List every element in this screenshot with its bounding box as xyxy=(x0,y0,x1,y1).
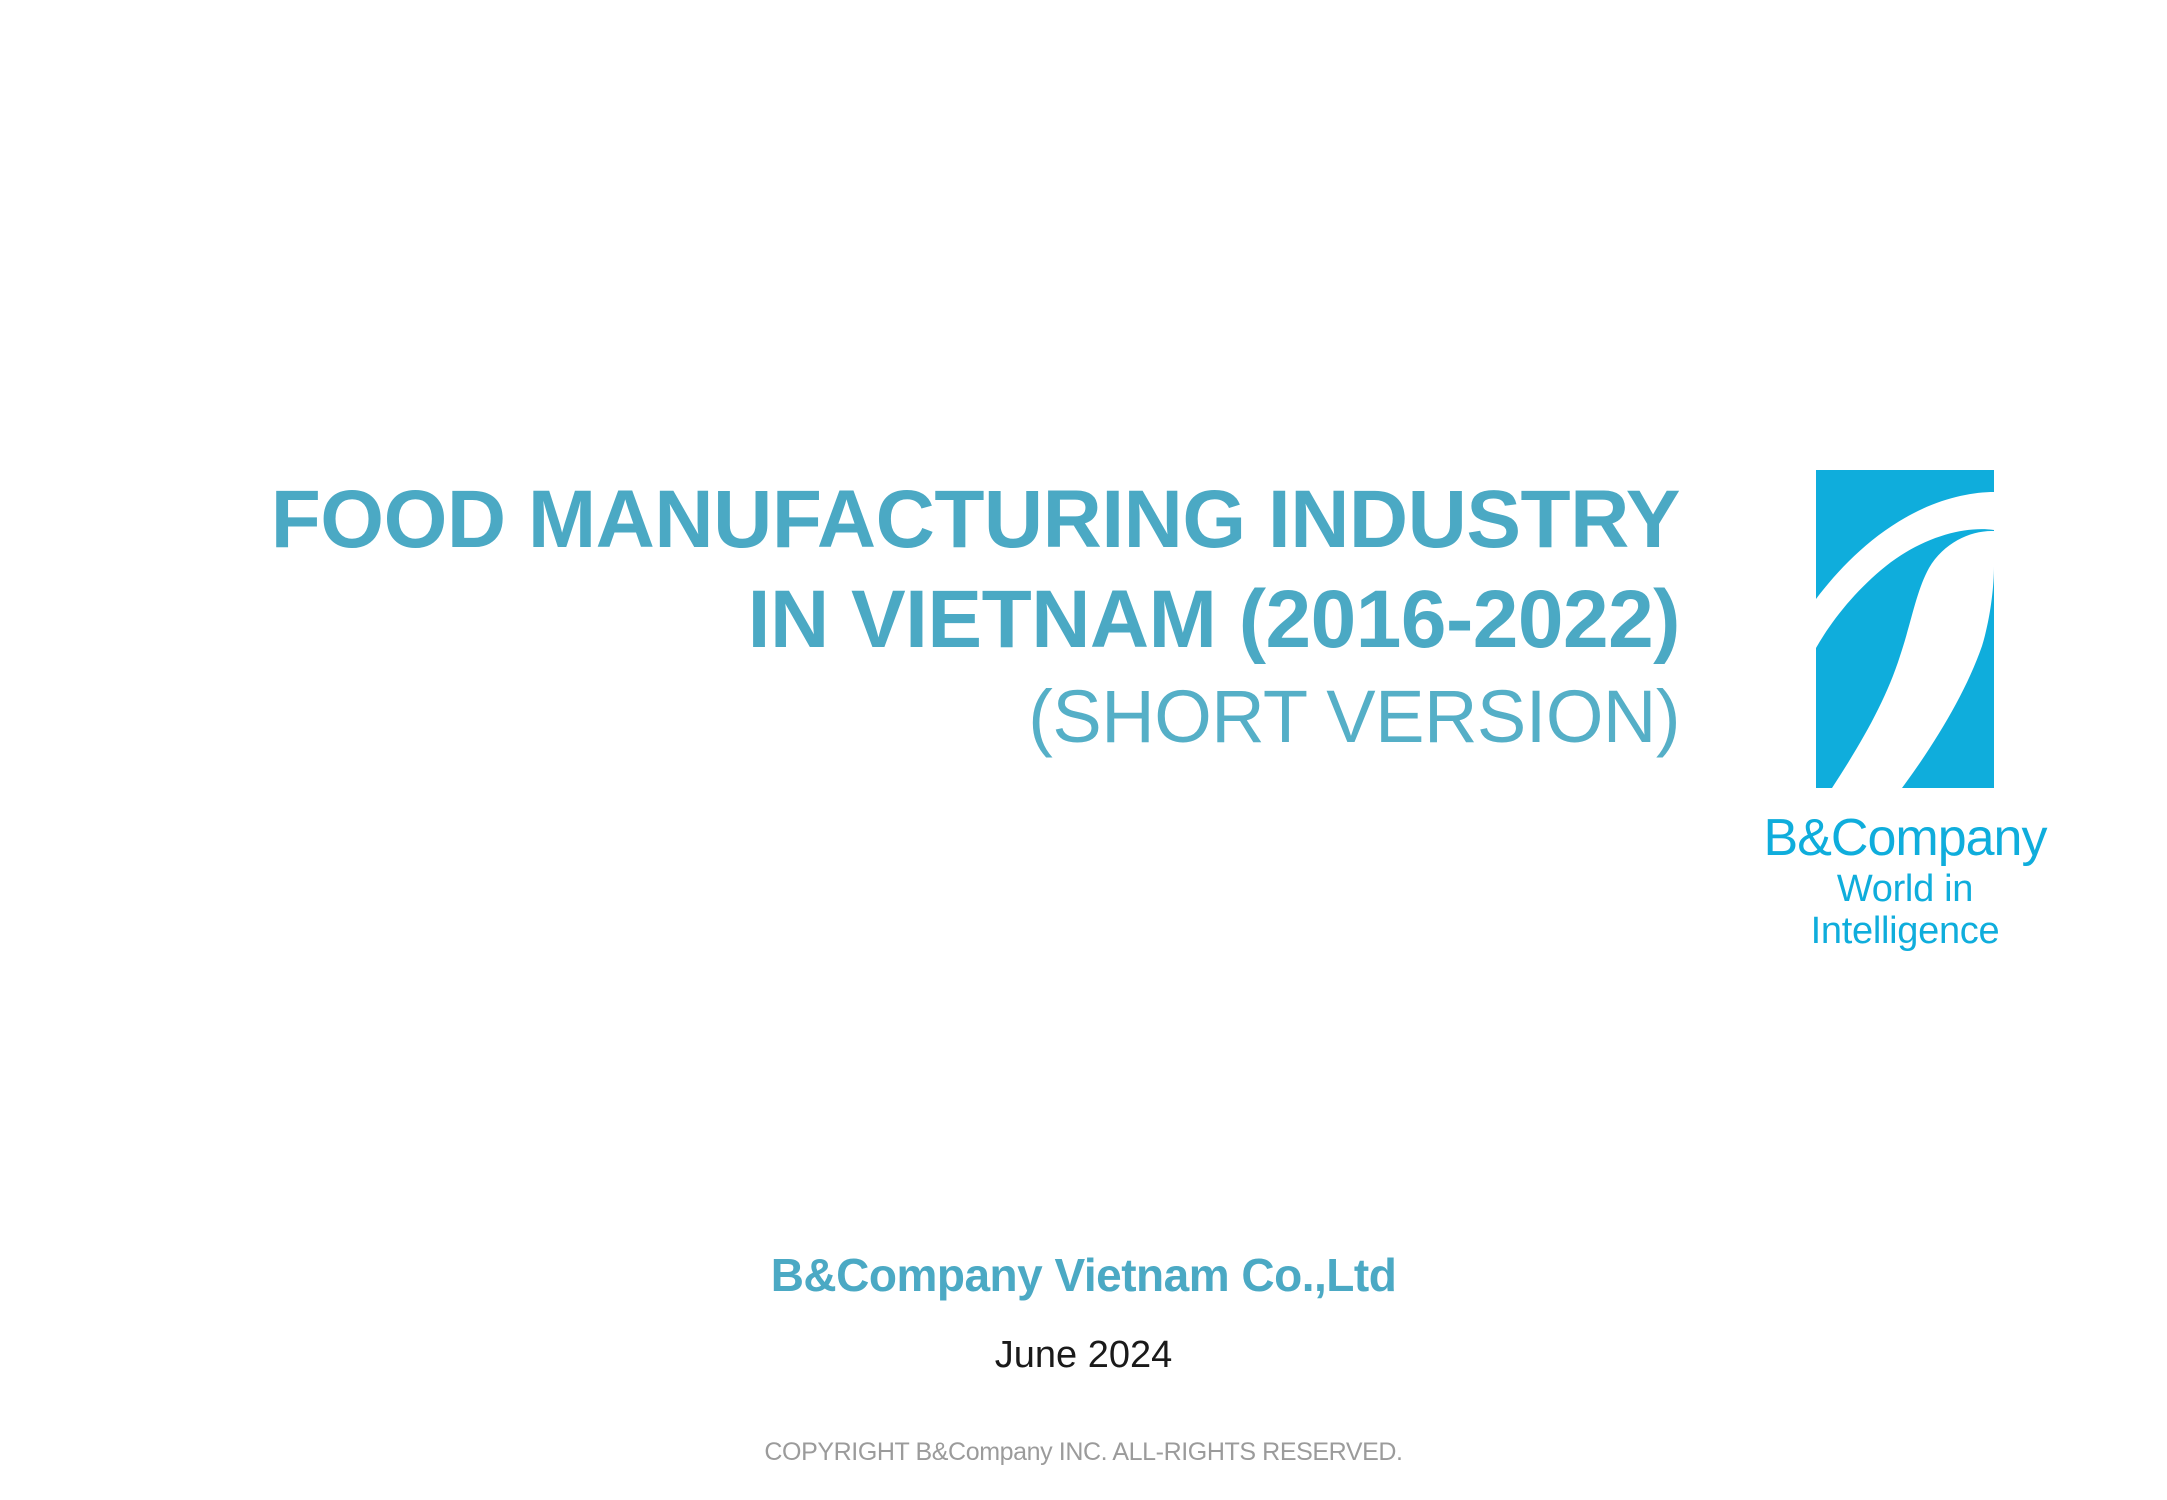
company-name: B&Company Vietnam Co.,Ltd xyxy=(0,1248,2167,1303)
slide-title-block: FOOD MANUFACTURING INDUSTRY IN VIETNAM (… xyxy=(150,470,1680,765)
b-and-company-bird-mark-icon xyxy=(1816,470,1994,788)
logo-wordmark: B&Company World in Intelligence xyxy=(1740,812,2070,953)
logo-tagline: World in Intelligence xyxy=(1740,869,2070,953)
page-title-line-3: (SHORT VERSION) xyxy=(150,670,1680,765)
logo-company-name: B&Company xyxy=(1740,812,2070,865)
company-logo: B&Company World in Intelligence xyxy=(1740,462,2070,932)
company-block: B&Company Vietnam Co.,Ltd June 2024 xyxy=(0,1248,2167,1379)
title-slide: FOOD MANUFACTURING INDUSTRY IN VIETNAM (… xyxy=(0,0,2167,1500)
publication-date: June 2024 xyxy=(0,1333,2167,1379)
page-title-line-1: FOOD MANUFACTURING INDUSTRY xyxy=(150,470,1680,570)
copyright-footer: COPYRIGHT B&Company INC. ALL-RIGHTS RESE… xyxy=(0,1438,2167,1467)
page-title-line-2: IN VIETNAM (2016-2022) xyxy=(150,570,1680,670)
